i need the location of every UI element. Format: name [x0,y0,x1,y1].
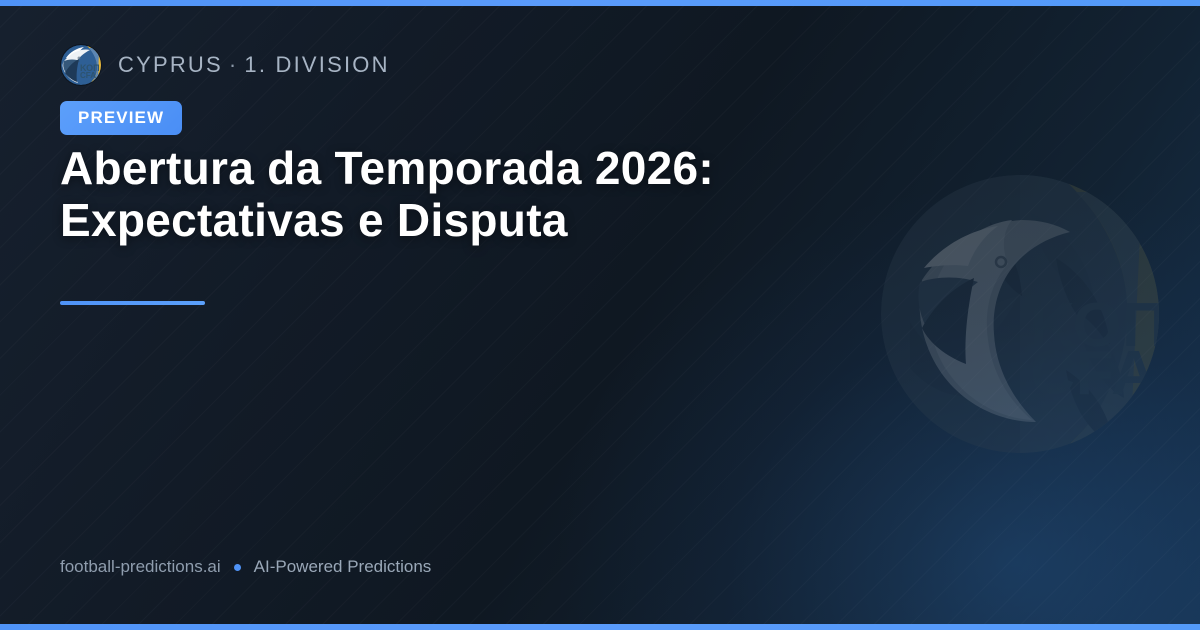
crest-watermark: ΚΟΠ CFA [880,172,1160,456]
page-title: Abertura da Temporada 2026: Expectativas… [60,143,850,246]
footer: football-predictions.ai AI-Powered Predi… [60,557,431,577]
svg-text:CFA: CFA [1030,339,1157,408]
top-accent-bar [0,0,1200,6]
league-header: ΚΟΠ CFA CYPRUS·1. DIVISION [60,44,390,86]
league-title: CYPRUS·1. DIVISION [118,52,390,78]
cyprus-football-association-crest-watermark-icon: ΚΟΠ CFA [880,172,1160,456]
footer-tagline: AI-Powered Predictions [254,557,432,577]
blue-dot-icon [234,564,241,571]
title-accent-rule [60,301,205,305]
open-graph-preview-card: ΚΟΠ CFA [0,0,1200,630]
league-crest-icon: ΚΟΠ CFA [60,44,102,86]
league-country: CYPRUS [118,52,223,77]
preview-status-badge[interactable]: PREVIEW [60,101,182,135]
league-competition: 1. DIVISION [244,52,389,77]
svg-text:CFA: CFA [80,71,96,80]
card-content: ΚΟΠ CFA CYPRUS·1. DIVISION PREVIEW Abert… [60,0,860,630]
league-separator: · [223,52,245,77]
footer-site-name: football-predictions.ai [60,557,221,577]
bottom-accent-bar [0,624,1200,630]
